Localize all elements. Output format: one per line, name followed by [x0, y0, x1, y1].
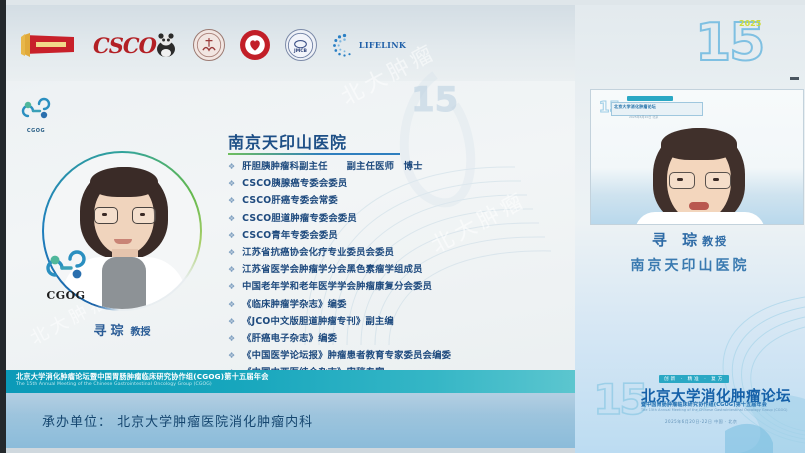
- red-flag-emblem-logo: [20, 32, 78, 58]
- bullet-diamond-icon: ❖: [228, 177, 235, 191]
- credential-text: CSCO青年专委会委员: [242, 229, 338, 243]
- lifelink-logo: LIFELINK: [332, 33, 406, 58]
- credential-text: 江苏省抗癌协会化疗专业委员会委员: [242, 246, 394, 260]
- portrait-speaker-title: 教授: [131, 327, 151, 338]
- bullet-diamond-icon: ❖: [228, 349, 235, 363]
- event-logo-date: 2025年6月20日-22日 中国 · 北京: [665, 419, 737, 425]
- video-backdrop-title: 北京大学消化肿瘤论坛: [612, 103, 702, 111]
- bullet-diamond-icon: ❖: [228, 160, 235, 174]
- svg-text:JMCB: JMCB: [293, 47, 307, 53]
- portrait-name-caption: 寻琮教授: [42, 320, 202, 339]
- credential-item: ❖《JCO中文版胆道肿瘤专刊》副主编: [228, 315, 558, 329]
- credential-item: ❖CSCO肝癌专委会常委: [228, 194, 558, 208]
- credential-item: ❖江苏省抗癌协会化疗专业委员会委员: [228, 246, 558, 260]
- event-logo-number: 15: [593, 379, 645, 421]
- window-left-edge: [0, 0, 6, 453]
- anniversary-year: 2025: [739, 19, 761, 28]
- lifelink-label: LIFELINK: [359, 40, 406, 50]
- conference-title-en: The 15th Annual Meeting of the Chinese G…: [16, 382, 212, 387]
- host-organization-text: 承办单位： 北京大学肿瘤医院消化肿瘤内科: [42, 411, 313, 430]
- bullet-diamond-icon: ❖: [228, 315, 235, 329]
- event-logo-block: 15 创新 · 精准 · 复方 北京大学消化肿瘤论坛 暨中国胃肠肿瘤临床研究协作…: [593, 373, 793, 431]
- video-backdrop-subtitle: 2025年6月20日 北京: [629, 115, 658, 119]
- host-band: 承办单位： 北京大学肿瘤医院消化肿瘤内科: [6, 393, 575, 448]
- bullet-diamond-icon: ❖: [228, 194, 235, 208]
- credential-text: CSCO胆道肿瘤专委会委员: [242, 212, 357, 226]
- panda-emblem-logo: [154, 32, 178, 58]
- speaker-video-tile[interactable]: 15 北京大学消化肿瘤论坛 2025年6月20日 北京: [591, 90, 803, 224]
- window-top-edge: [0, 0, 805, 5]
- jmcb-circular-logo: JMCB: [285, 29, 317, 61]
- bullet-diamond-icon: ❖: [228, 332, 235, 346]
- slide-15-watermark: 15: [411, 80, 458, 120]
- title-underline: [228, 153, 400, 155]
- event-logo-english: The 15th Annual Meeting of the Chinese G…: [641, 408, 788, 412]
- player-control-dash[interactable]: [790, 77, 799, 80]
- csco-logo: CSCO: [93, 32, 178, 58]
- conference-title-cn: 北京大学消化肿瘤论坛暨中国胃肠肿瘤临床研究协作组(CGOG)第十五届年会: [16, 372, 269, 382]
- tan-circular-emblem-logo: [193, 29, 225, 61]
- credential-item: ❖CSCO胰腺癌专委会委员: [228, 177, 558, 191]
- credential-item: ❖肝胆胰肿瘤科副主任 副主任医师 博士: [228, 160, 558, 174]
- event-logo-subtitle: 暨中国胃肠肿瘤临床研究协作组(CGOG)第十五届年会: [641, 401, 767, 408]
- sponsor-logo-strip: CSCO: [20, 29, 406, 61]
- credentials-list: ❖肝胆胰肿瘤科副主任 副主任医师 博士❖CSCO胰腺癌专委会委员❖CSCO肝癌专…: [228, 160, 558, 383]
- speaker-name: 寻 琮: [652, 231, 702, 249]
- cgog-small-logo: CGOG: [18, 97, 54, 134]
- bullet-diamond-icon: ❖: [228, 229, 235, 243]
- bullet-diamond-icon: ❖: [228, 212, 235, 226]
- credential-text: 《JCO中文版胆道肿瘤专刊》副主编: [242, 315, 394, 329]
- speaker-title: 教授: [702, 235, 728, 248]
- credential-text: CSCO胰腺癌专委会委员: [242, 177, 347, 191]
- credential-text: 《肝癌电子杂志》编委: [242, 332, 337, 346]
- video-backdrop-banner: 15 北京大学消化肿瘤论坛 2025年6月20日 北京: [599, 96, 703, 120]
- portrait-speaker-name: 寻琮: [93, 324, 127, 339]
- credential-item: ❖《肝癌电子杂志》编委: [228, 332, 558, 346]
- bullet-diamond-icon: ❖: [228, 246, 235, 260]
- slide-title: 南京天印山医院: [228, 129, 347, 153]
- video-backdrop-titlebox: 北京大学消化肿瘤论坛: [611, 102, 703, 116]
- credential-item: ❖中国老年学和老年医学学会肿瘤康复分会委员: [228, 280, 558, 294]
- bullet-diamond-icon: ❖: [228, 263, 235, 277]
- bullet-diamond-icon: ❖: [228, 280, 235, 294]
- credential-item: ❖《中国医学论坛报》肿瘤患者教育专家委员会编委: [228, 349, 558, 363]
- speaker-caption: 寻 琮教授 南京天印山医院: [575, 229, 805, 275]
- right-sidebar: 15 2025 15 北京大学消化肿瘤论坛 2025年6月20日 北京: [575, 5, 805, 453]
- event-logo-tagline: 创新 · 精准 · 复方: [659, 375, 729, 383]
- anniversary-number: 15: [695, 17, 775, 69]
- credential-item: ❖CSCO胆道肿瘤专委会委员: [228, 212, 558, 226]
- credential-text: 中国老年学和老年医学学会肿瘤康复分会委员: [242, 280, 432, 294]
- cgog-portrait-logo: CGOG: [40, 249, 92, 302]
- cgog-portrait-caption: CGOG: [40, 289, 92, 302]
- credential-item: ❖江苏省医学会肿瘤学分会黑色素瘤学组成员: [228, 263, 558, 277]
- anniversary-badge: 15 2025: [695, 17, 775, 79]
- video-backdrop-tagline: [627, 96, 673, 101]
- conference-title-strip: 北京大学消化肿瘤论坛暨中国胃肠肿瘤临床研究协作组(CGOG)第十五届年会 The…: [6, 370, 575, 393]
- credential-text: CSCO肝癌专委会常委: [242, 194, 338, 208]
- red-heart-emblem-logo: [240, 30, 270, 60]
- presentation-stage: 北大肿瘤 北大肿瘤 北大肿瘤 CSCO: [0, 0, 805, 453]
- credential-text: 《临床肿瘤学杂志》编委: [242, 298, 346, 312]
- slide-canvas[interactable]: 北大肿瘤 北大肿瘤 北大肿瘤 CSCO: [6, 5, 575, 448]
- credential-item: ❖《临床肿瘤学杂志》编委: [228, 298, 558, 312]
- credential-text: 肝胆胰肿瘤科副主任 副主任医师 博士: [242, 160, 422, 174]
- credential-text: 江苏省医学会肿瘤学分会黑色素瘤学组成员: [242, 263, 422, 277]
- credential-text: 《中国医学论坛报》肿瘤患者教育专家委员会编委: [242, 349, 451, 363]
- cgog-small-caption: CGOG: [18, 128, 54, 134]
- speaker-affiliation: 南京天印山医院: [575, 255, 805, 275]
- credential-item: ❖CSCO青年专委会委员: [228, 229, 558, 243]
- speaker-name-line: 寻 琮教授: [575, 229, 805, 250]
- bullet-diamond-icon: ❖: [228, 298, 235, 312]
